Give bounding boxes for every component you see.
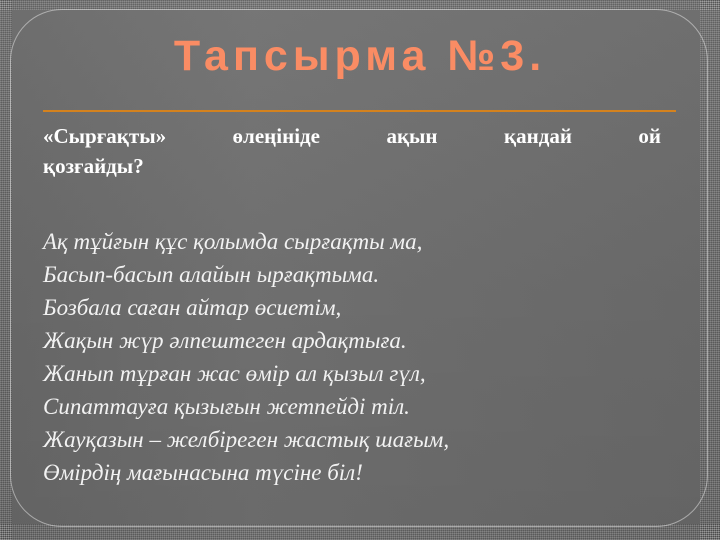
poem-line: Ақ тұйғын құс қолымда сырғақты ма, [43, 225, 663, 258]
slide-texture-bottom [0, 524, 720, 540]
poem-line: Өмірдің мағынасына түсіне біл! [43, 456, 663, 489]
poem-block: Ақ тұйғын құс қолымда сырғақты ма, Басып… [43, 225, 663, 489]
poem-line: Бозбала саған айтар өсиетім, [43, 291, 663, 324]
question-line-1: «Сырғақты» өлеңініде ақын қандай ой [43, 122, 661, 152]
poem-line: Жақын жүр әлпештеген ардақтыға. [43, 324, 663, 357]
question-line-2: қозғайды? [43, 152, 661, 182]
slide-texture-top [0, 0, 720, 10]
poem-line: Жауқазын – желбіреген жастық шағым, [43, 423, 663, 456]
slide-texture-right [700, 0, 720, 540]
presentation-slide: Тапсырма №3. «Сырғақты» өлеңініде ақын қ… [0, 0, 720, 540]
poem-line: Сипаттауға қызығын жетпейді тіл. [43, 390, 663, 423]
poem-line: Басып-басып алайын ырғақтыма. [43, 258, 663, 291]
title-divider [43, 110, 676, 112]
question-block: «Сырғақты» өлеңініде ақын қандай ой қозғ… [43, 122, 661, 182]
slide-title: Тапсырма №3. [0, 32, 720, 80]
slide-texture-left [0, 0, 12, 540]
poem-line: Жанып тұрған жас өмір ал қызыл гүл, [43, 357, 663, 390]
